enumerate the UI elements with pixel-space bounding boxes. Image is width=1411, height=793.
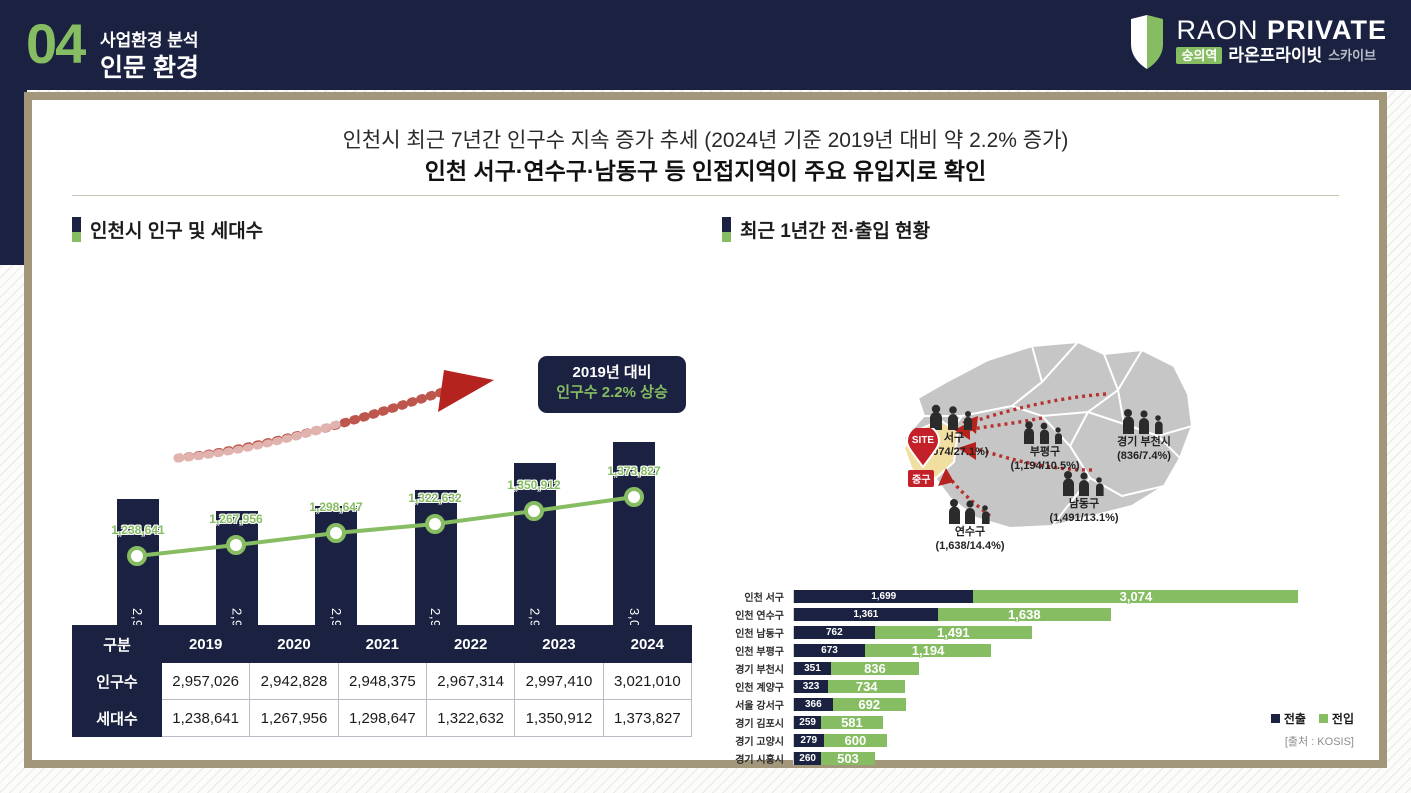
table-cell: 2,997,410 xyxy=(515,663,603,700)
migration-row: 인천 계양구 323 734 xyxy=(722,680,1362,693)
migration-row: 인천 연수구 1,361 1,638 xyxy=(722,608,1362,621)
bar-in-label: 503 xyxy=(837,751,859,766)
bar-in: 600 xyxy=(824,734,888,747)
row-track: 279 600 xyxy=(793,734,1362,747)
table-cell: 2,967,314 xyxy=(426,663,514,700)
table-header-cell: 2022 xyxy=(426,626,514,663)
bar-in-label: 1,194 xyxy=(912,643,945,658)
migration-panel: 서구 (3,074/27.1%) 부평구 (1,194/10.5%) xyxy=(722,300,1362,750)
site-marker: SITE xyxy=(906,428,940,468)
bar-in: 1,491 xyxy=(875,626,1032,639)
row-label: 경기 부천시 xyxy=(722,661,793,676)
table-row: 인구수 2,957,026 2,942,828 2,948,375 2,967,… xyxy=(73,663,692,700)
header-navy-left-strip xyxy=(0,90,27,265)
bar-in-label: 3,074 xyxy=(1120,589,1153,604)
table-row-label: 세대수 xyxy=(73,700,162,737)
bar-in: 734 xyxy=(828,680,905,693)
table-cell: 3,021,010 xyxy=(603,663,691,700)
row-track: 1,699 3,074 xyxy=(793,590,1362,603)
bar-in: 503 xyxy=(821,752,874,765)
row-label: 인천 계양구 xyxy=(722,679,793,694)
people-icon xyxy=(924,404,984,430)
map-label-name: 남동구 xyxy=(1038,498,1130,512)
section-number: 04 xyxy=(26,16,84,72)
bar-in: 692 xyxy=(833,698,906,711)
site-district-label: 중구 xyxy=(908,470,934,487)
map-label-name: 부평구 xyxy=(1002,446,1088,460)
bar-out-label: 762 xyxy=(826,627,843,638)
title-divider xyxy=(72,195,1339,196)
table-cell: 1,298,647 xyxy=(338,700,426,737)
bar-in: 1,194 xyxy=(865,644,991,657)
table-cell: 1,267,956 xyxy=(250,700,338,737)
migration-row: 인천 남동구 762 1,491 xyxy=(722,626,1362,639)
people-icon xyxy=(1056,470,1112,496)
bar-out: 1,361 xyxy=(794,608,938,621)
logo-word-raon: RAON xyxy=(1176,15,1267,45)
logo-wordmark: RAON PRIVATE xyxy=(1176,17,1387,44)
source-note: [출처 : KOSIS] xyxy=(1285,733,1354,749)
bar-in-label: 692 xyxy=(858,697,880,712)
map-label-value: (1,638/14.4%) xyxy=(924,540,1016,554)
legend-item-out: 전출 xyxy=(1271,710,1306,727)
bar-out-label: 260 xyxy=(799,753,816,764)
bullet-icon xyxy=(722,217,731,242)
table-header-cell: 2024 xyxy=(603,626,691,663)
content-card: 인천시 최근 7년간 인구수 지속 증가 추세 (2024년 기준 2019년 … xyxy=(32,100,1379,760)
row-track: 762 1,491 xyxy=(793,626,1362,639)
logo-brand-kr: 라온프라이빗 xyxy=(1228,47,1322,64)
map-label-value: (836/7.4%) xyxy=(1098,450,1190,464)
population-data-table: 구분 2019 2020 2021 2022 2023 2024 인구수 2,9… xyxy=(72,625,692,737)
logo-subline: 숭의역 라온프라이빗 스카이브 xyxy=(1176,47,1387,64)
bar-in-label: 734 xyxy=(856,679,878,694)
row-track: 1,361 1,638 xyxy=(793,608,1362,621)
right-section-title: 최근 1년간 전·출입 현황 xyxy=(740,216,930,243)
slide-header: 04 사업환경 분석 인문 환경 RAON PRIVATE 숭의역 라온프라이빗… xyxy=(0,0,1411,92)
table-cell: 2,957,026 xyxy=(162,663,250,700)
people-icon xyxy=(1018,420,1072,444)
bar-out: 1,699 xyxy=(794,590,973,603)
bullet-icon xyxy=(72,217,81,242)
people-icon xyxy=(942,498,998,524)
migration-row: 경기 시흥시 260 503 xyxy=(722,752,1362,765)
bar-out: 279 xyxy=(794,734,824,747)
migration-row: 서울 강서구 366 692 xyxy=(722,698,1362,711)
logo-word-private: PRIVATE xyxy=(1267,15,1387,45)
bar-in-label: 1,638 xyxy=(1008,607,1041,622)
bar-in: 581 xyxy=(821,716,882,729)
map-label-name: 연수구 xyxy=(924,526,1016,540)
table-cell: 1,238,641 xyxy=(162,700,250,737)
left-section-header: 인천시 인구 및 세대수 xyxy=(72,216,263,243)
bar-in: 3,074 xyxy=(973,590,1298,603)
table-cell: 2,948,375 xyxy=(338,663,426,700)
map-label-bucheon: 경기 부천시 (836/7.4%) xyxy=(1098,408,1190,464)
bar-out: 259 xyxy=(794,716,821,729)
table-cell: 2,942,828 xyxy=(250,663,338,700)
bar-out: 762 xyxy=(794,626,875,639)
table-cell: 1,373,827 xyxy=(603,700,691,737)
incheon-map: 서구 (3,074/27.1%) 부평구 (1,194/10.5%) xyxy=(892,320,1212,565)
legend-item-in: 전입 xyxy=(1319,710,1354,727)
map-label-namdong: 남동구 (1,491/13.1%) xyxy=(1038,470,1130,526)
row-label: 인천 남동구 xyxy=(722,625,793,640)
bar-out-label: 259 xyxy=(799,717,816,728)
row-track: 323 734 xyxy=(793,680,1362,693)
bar-out-label: 323 xyxy=(803,681,820,692)
table-cell: 1,322,632 xyxy=(426,700,514,737)
table-header-cell: 구분 xyxy=(73,626,162,663)
site-marker-label: SITE xyxy=(906,428,940,454)
row-label: 서울 강서구 xyxy=(722,697,793,712)
callout-line2: 인구수 2.2% 상승 xyxy=(538,383,686,403)
callout-line1: 2019년 대비 xyxy=(538,363,686,383)
map-label-bupyeong: 부평구 (1,194/10.5%) xyxy=(1002,420,1088,474)
table-header-row: 구분 2019 2020 2021 2022 2023 2024 xyxy=(73,626,692,663)
slide-title-line1: 인천시 최근 7년간 인구수 지속 증가 추세 (2024년 기준 2019년 … xyxy=(32,124,1379,154)
row-label: 인천 연수구 xyxy=(722,607,793,622)
row-label: 경기 김포시 xyxy=(722,715,793,730)
left-section-title: 인천시 인구 및 세대수 xyxy=(90,216,263,243)
table-header-cell: 2019 xyxy=(162,626,250,663)
bar-in-label: 600 xyxy=(844,733,866,748)
bar-in: 1,638 xyxy=(938,608,1111,621)
bar-out: 260 xyxy=(794,752,821,765)
map-label-value: (1,491/13.1%) xyxy=(1038,512,1130,526)
bar-out: 323 xyxy=(794,680,828,693)
bar-out-label: 1,361 xyxy=(853,609,878,620)
content-card-border: 인천시 최근 7년간 인구수 지속 증가 추세 (2024년 기준 2019년 … xyxy=(24,92,1387,768)
bar-out: 673 xyxy=(794,644,865,657)
bar-out-label: 1,699 xyxy=(871,591,896,602)
migration-row: 인천 서구 1,699 3,074 xyxy=(722,590,1362,603)
row-label: 경기 고양시 xyxy=(722,733,793,748)
row-track: 351 836 xyxy=(793,662,1362,675)
bar-in: 836 xyxy=(831,662,919,675)
table-header-cell: 2023 xyxy=(515,626,603,663)
migration-row: 경기 부천시 351 836 xyxy=(722,662,1362,675)
table-row: 세대수 1,238,641 1,267,956 1,298,647 1,322,… xyxy=(73,700,692,737)
table-row-label: 인구수 xyxy=(73,663,162,700)
bar-out-label: 366 xyxy=(805,699,822,710)
migration-bar-chart: 인천 서구 1,699 3,074 인천 연수구 1,361 1,638 인천 … xyxy=(722,590,1362,730)
bar-out: 366 xyxy=(794,698,833,711)
people-icon xyxy=(1117,408,1171,434)
map-label-name: 경기 부천시 xyxy=(1098,436,1190,450)
bar-out: 351 xyxy=(794,662,831,675)
logo-station-chip: 숭의역 xyxy=(1176,47,1222,64)
chart-legend: 전출 전입 xyxy=(1271,710,1354,727)
bar-in-label: 836 xyxy=(864,661,886,676)
section-title: 인문 환경 xyxy=(100,48,199,84)
row-track: 260 503 xyxy=(793,752,1362,765)
table-cell: 1,350,912 xyxy=(515,700,603,737)
migration-row: 경기 김포시 259 581 xyxy=(722,716,1362,729)
legend-swatch-in xyxy=(1319,714,1328,723)
bar-in-label: 581 xyxy=(841,715,863,730)
brand-logo: RAON PRIVATE 숭의역 라온프라이빗 스카이브 xyxy=(1127,14,1387,76)
legend-label-out: 전출 xyxy=(1284,710,1306,727)
bar-out-label: 279 xyxy=(800,735,817,746)
bar-out-label: 351 xyxy=(804,663,821,674)
table-header-cell: 2021 xyxy=(338,626,426,663)
table-header-cell: 2020 xyxy=(250,626,338,663)
migration-row: 경기 고양시 279 600 xyxy=(722,734,1362,747)
bar-in-label: 1,491 xyxy=(937,625,970,640)
slide-title-line2: 인천 서구·연수구·남동구 등 인접지역이 주요 유입지로 확인 xyxy=(32,152,1379,186)
row-label: 인천 부평구 xyxy=(722,643,793,658)
logo-brand-kr-sub: 스카이브 xyxy=(1328,49,1376,62)
row-label: 경기 시흥시 xyxy=(722,751,793,766)
growth-callout-badge: 2019년 대비 인구수 2.2% 상승 xyxy=(538,356,686,413)
legend-swatch-out xyxy=(1271,714,1280,723)
migration-row: 인천 부평구 673 1,194 xyxy=(722,644,1362,657)
shield-icon xyxy=(1127,14,1167,70)
legend-label-in: 전입 xyxy=(1332,710,1354,727)
bar-out-label: 673 xyxy=(821,645,838,656)
row-label: 인천 서구 xyxy=(722,589,793,604)
row-track: 673 1,194 xyxy=(793,644,1362,657)
right-section-header: 최근 1년간 전·출입 현황 xyxy=(722,216,930,243)
map-label-yeonsu: 연수구 (1,638/14.4%) xyxy=(924,498,1016,554)
